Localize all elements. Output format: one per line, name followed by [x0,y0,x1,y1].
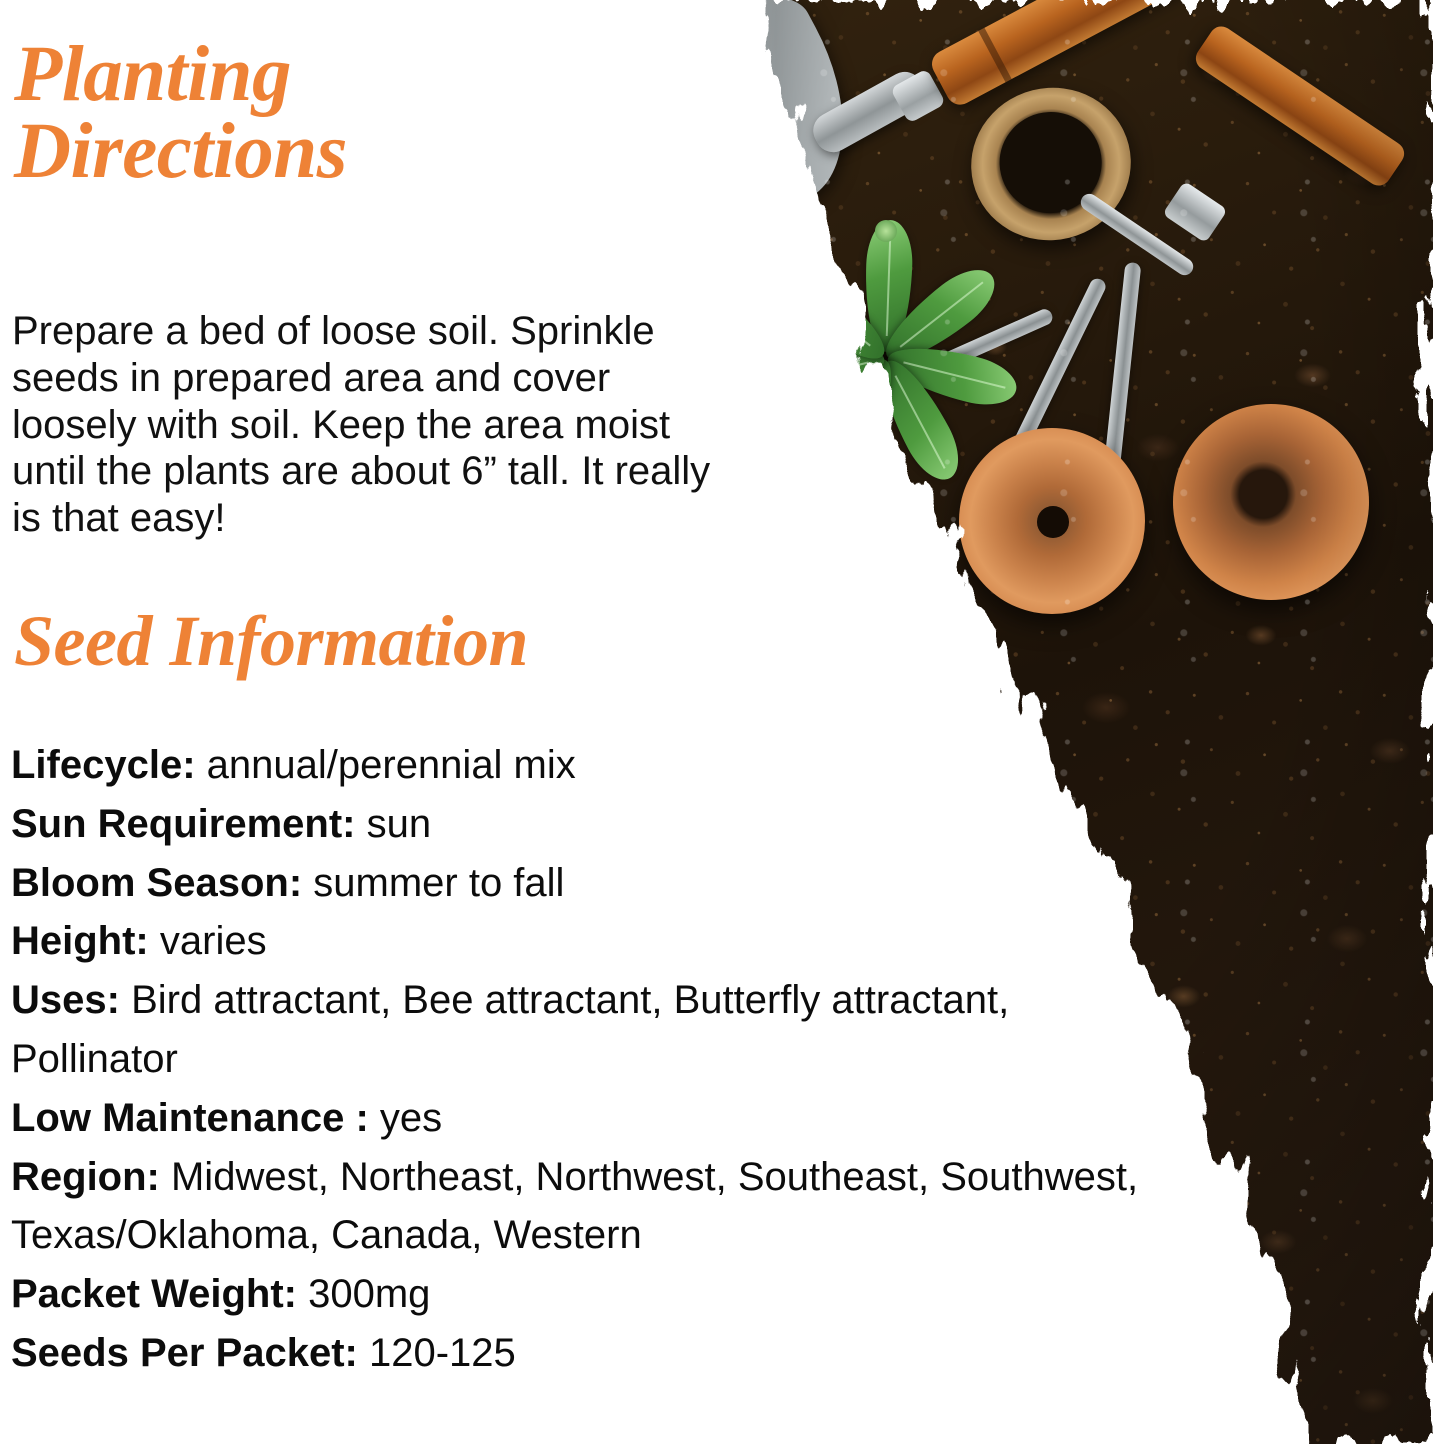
terracotta-pot-icon [959,428,1145,614]
seed-info-row: Low Maintenance : yes [11,1089,1181,1148]
seed-information-list: Lifecycle: annual/perennial mixSun Requi… [11,736,1181,1383]
seed-info-value: 300mg [297,1272,430,1316]
seed-info-row: Bloom Season: summer to fall [11,854,1181,913]
seed-info-label: Lifecycle: [11,743,196,787]
seed-info-row: Sun Requirement: sun [11,795,1181,854]
seed-information-heading: Seed Information [14,606,528,677]
seed-info-label: Height: [11,919,149,963]
terracotta-pot-icon [1173,404,1369,600]
seed-info-value: annual/perennial mix [196,743,576,787]
seed-info-row: Region: Midwest, Northeast, Northwest, S… [11,1148,1181,1266]
seed-info-value: varies [149,919,267,963]
seed-info-value: sun [355,802,431,846]
seed-info-row: Packet Weight: 300mg [11,1265,1181,1324]
seed-info-label: Bloom Season: [11,861,302,905]
leaf-rosette-center [875,220,897,242]
seed-packet-info-card: Planting Directions Prepare a bed of loo… [0,0,1433,1444]
planting-directions-body: Prepare a bed of loose soil. Sprinkle se… [12,308,742,542]
seed-info-label: Packet Weight: [11,1272,297,1316]
seed-info-label: Sun Requirement: [11,802,355,846]
seed-info-row: Lifecycle: annual/perennial mix [11,736,1181,795]
seed-info-value: Midwest, Northeast, Northwest, Southeast… [11,1155,1138,1258]
seed-info-value: summer to fall [302,861,564,905]
seed-info-value: yes [369,1096,442,1140]
seed-info-row: Seeds Per Packet: 120-125 [11,1324,1181,1383]
seed-info-label: Uses: [11,978,120,1022]
seed-info-row: Height: varies [11,912,1181,971]
seedling-plant-icon [755,108,1015,368]
seed-info-value: 120-125 [358,1331,516,1375]
seed-info-row: Uses: Bird attractant, Bee attractant, B… [11,971,1181,1089]
seed-info-label: Region: [11,1155,160,1199]
planting-directions-heading: Planting Directions [14,36,534,191]
seed-info-label: Seeds Per Packet: [11,1331,358,1375]
seed-info-label: Low Maintenance : [11,1096,369,1140]
seed-info-value: Bird attractant, Bee attractant, Butterf… [11,978,1009,1081]
